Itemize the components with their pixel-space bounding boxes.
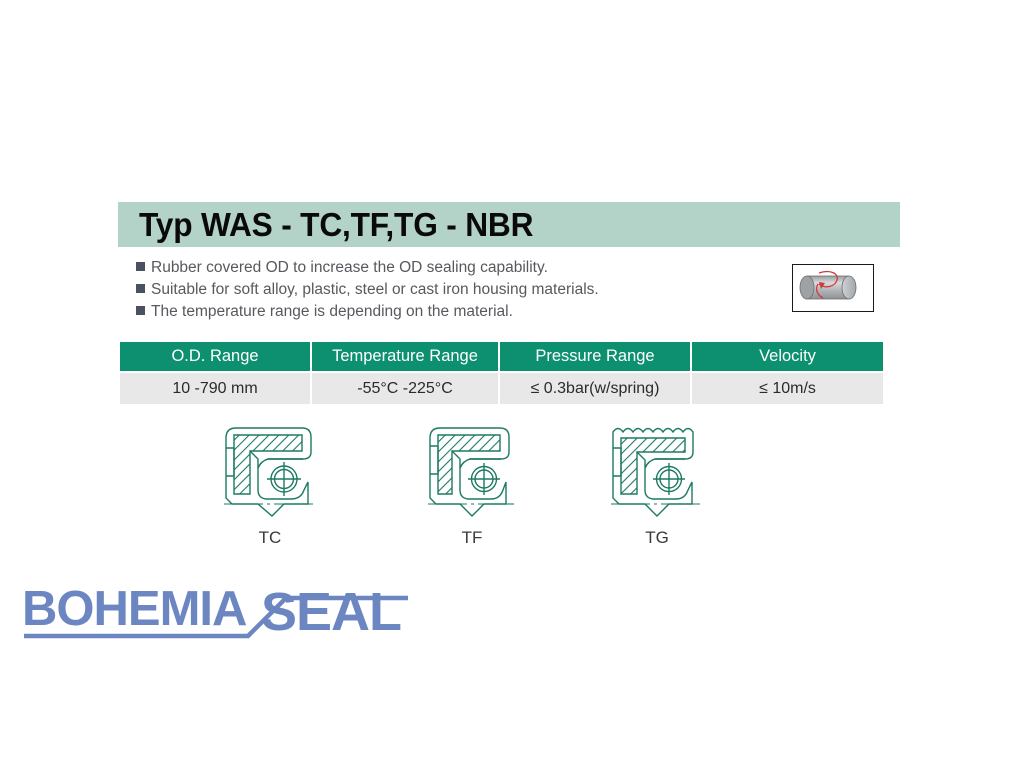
bohemia-seal-logo: BOHEMIA SEAL bbox=[18, 578, 418, 648]
rotating-shaft-icon bbox=[792, 264, 874, 312]
logo-graphic: BOHEMIA SEAL bbox=[18, 578, 418, 648]
seal-diagram-tg bbox=[597, 418, 717, 528]
square-bullet-icon bbox=[136, 306, 145, 315]
specification-table: O.D. Range Temperature Range Pressure Ra… bbox=[118, 340, 885, 406]
datasheet-page: Typ WAS - TC,TF,TG - NBR Rubber covered … bbox=[0, 0, 1024, 768]
page-title: Typ WAS - TC,TF,TG - NBR bbox=[139, 204, 869, 246]
shaft-icon-graphic bbox=[793, 265, 872, 310]
cell-pressure-range: ≤ 0.3bar(w/spring) bbox=[500, 373, 690, 404]
seal-tf-graphic bbox=[412, 418, 527, 523]
feature-list: Rubber covered OD to increase the OD sea… bbox=[136, 257, 756, 323]
column-header-velocity: Velocity bbox=[692, 342, 883, 371]
column-header-od-range: O.D. Range bbox=[120, 342, 310, 371]
seal-tg-graphic bbox=[597, 418, 717, 523]
cell-temperature-range: -55°C -225°C bbox=[312, 373, 498, 404]
table-row: 10 -790 mm -55°C -225°C ≤ 0.3bar(w/sprin… bbox=[120, 373, 883, 404]
feature-text: Suitable for soft alloy, plastic, steel … bbox=[151, 279, 599, 300]
table-header-row: O.D. Range Temperature Range Pressure Ra… bbox=[120, 342, 883, 371]
seal-diagram-tc bbox=[206, 418, 331, 528]
list-item: Rubber covered OD to increase the OD sea… bbox=[136, 257, 756, 279]
list-item: Suitable for soft alloy, plastic, steel … bbox=[136, 279, 756, 301]
cell-velocity: ≤ 10m/s bbox=[692, 373, 883, 404]
seal-label-tf: TF bbox=[442, 528, 502, 548]
square-bullet-icon bbox=[136, 284, 145, 293]
feature-text: The temperature range is depending on th… bbox=[151, 301, 513, 322]
seal-label-tg: TG bbox=[627, 528, 687, 548]
seal-tc-graphic bbox=[206, 418, 331, 523]
seal-label-tc: TC bbox=[240, 528, 300, 548]
column-header-pressure-range: Pressure Range bbox=[500, 342, 690, 371]
cell-od-range: 10 -790 mm bbox=[120, 373, 310, 404]
square-bullet-icon bbox=[136, 262, 145, 271]
logo-word-seal: SEAL bbox=[261, 582, 401, 642]
seal-diagram-tf bbox=[412, 418, 527, 528]
column-header-temperature-range: Temperature Range bbox=[312, 342, 498, 371]
feature-text: Rubber covered OD to increase the OD sea… bbox=[151, 257, 548, 278]
logo-word-bohemia: BOHEMIA bbox=[22, 582, 247, 636]
list-item: The temperature range is depending on th… bbox=[136, 301, 756, 323]
